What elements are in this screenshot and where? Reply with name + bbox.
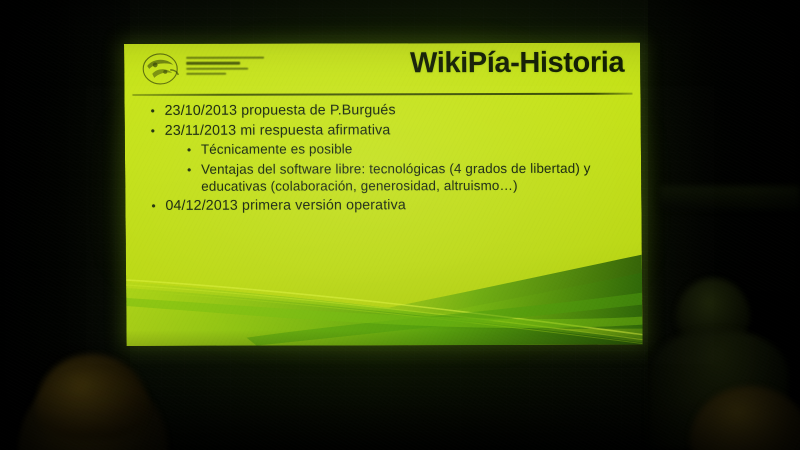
list-item-text: 04/12/2013 primera versión operativa [165, 195, 623, 215]
slide-header: university crest emblem WikiPía-Historia [124, 43, 640, 94]
bullet-marker-icon: • [151, 121, 165, 140]
bullet-marker-icon: • [151, 102, 165, 121]
slide-bullet-list: • 23/10/2013 propuesta de P.Burgués • 23… [151, 101, 624, 216]
list-item-text: 23/11/2013 mi respuesta afirmativa [165, 120, 623, 140]
organization-name-text: university crest emblem [186, 57, 266, 78]
list-item-text: Ventajas del software libre: tecnológica… [201, 159, 623, 195]
list-item-text: Técnicamente es posible [201, 140, 623, 159]
list-item: • 23/11/2013 mi respuesta afirmativa [151, 120, 623, 140]
list-item: • Ventajas del software libre: tecnológi… [151, 159, 623, 195]
screenshot-root: university crest emblem WikiPía-Historia… [0, 0, 800, 450]
list-item: • 23/10/2013 propuesta de P.Burgués [151, 101, 623, 121]
bullet-marker-icon: • [187, 160, 201, 179]
slide-title: WikiPía-Historia [410, 47, 624, 81]
bullet-marker-icon: • [187, 141, 201, 160]
bullet-marker-icon: • [151, 196, 165, 215]
list-item: • Técnicamente es posible [151, 140, 623, 160]
organization-emblem-icon [140, 52, 182, 86]
list-item: • 04/12/2013 primera versión operativa [151, 195, 623, 215]
list-item-text: 23/10/2013 propuesta de P.Burgués [165, 101, 623, 121]
projection-screen: university crest emblem WikiPía-Historia… [124, 43, 643, 346]
background-object-silhouette [660, 186, 800, 210]
